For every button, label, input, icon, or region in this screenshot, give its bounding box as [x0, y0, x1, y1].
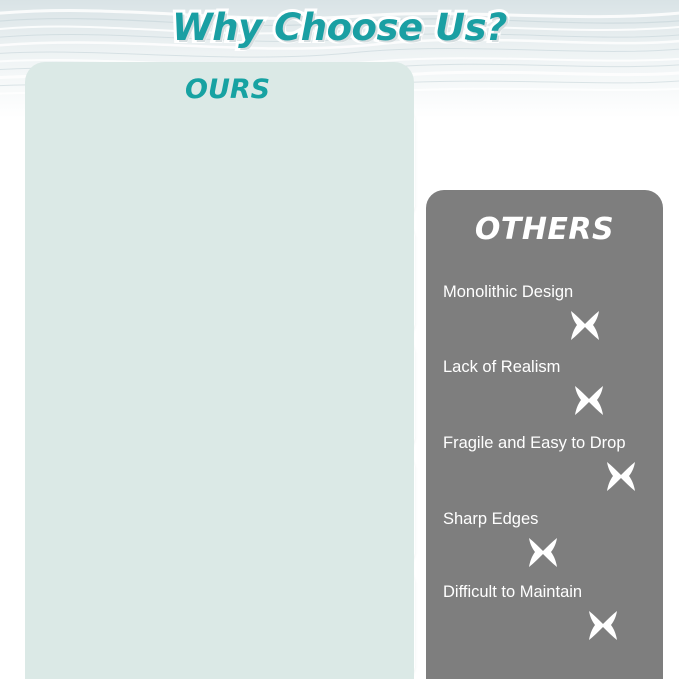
others-item-label: Difficult to Maintain — [443, 583, 582, 602]
others-heading: OTHERS — [426, 212, 663, 247]
ours-heading: OURS — [185, 74, 365, 105]
x-icon — [568, 309, 602, 343]
x-icon — [586, 609, 620, 643]
page-title: Why Choose Us? — [0, 6, 679, 49]
others-item-label: Sharp Edges — [443, 510, 538, 529]
others-panel: OTHERS Monolithic Design Lack of Realism… — [426, 190, 663, 679]
others-item-label: Monolithic Design — [443, 283, 573, 302]
ours-panel: OURS — [25, 62, 414, 679]
why-choose-us-infographic: Why Choose Us? Why Choose Us? OURS — [0, 0, 679, 679]
x-icon — [604, 460, 638, 494]
x-icon — [572, 384, 606, 418]
others-item-label: Fragile and Easy to Drop — [443, 434, 626, 453]
x-icon — [526, 536, 560, 570]
others-item-label: Lack of Realism — [443, 358, 560, 377]
